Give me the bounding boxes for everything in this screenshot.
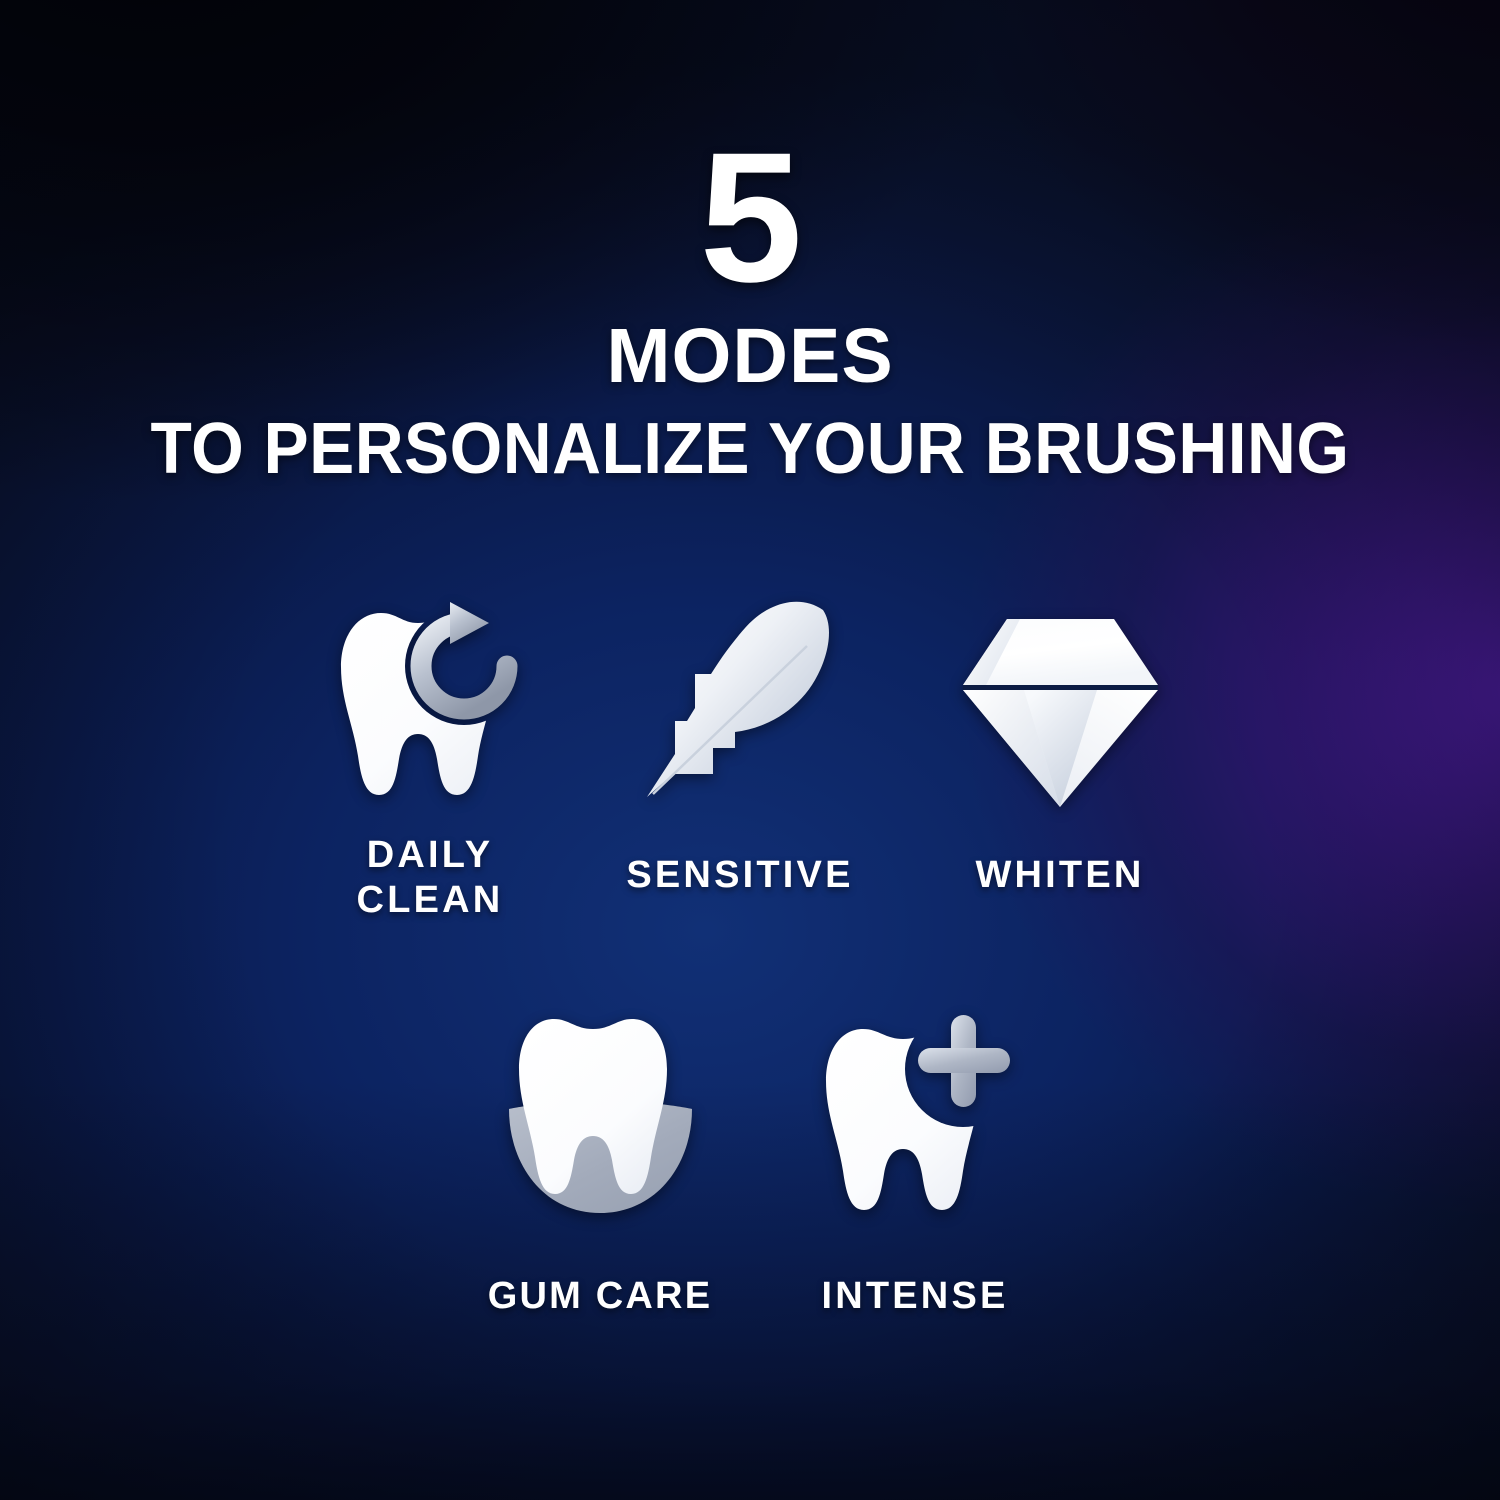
tooth-gum-icon [493,1005,708,1230]
mode-item-daily-clean[interactable]: DAILY CLEAN [280,596,580,923]
tooth-refresh-arrow-icon [330,596,530,811]
feather-vane [647,602,829,797]
diamond-icon [958,611,1163,811]
mode-label-whiten: WHITEN [975,853,1144,898]
mode-item-gum-care[interactable]: GUM CARE [435,1005,765,1319]
icon-container-gum-care [493,1005,708,1230]
mode-item-intense[interactable]: INTENSE [765,1005,1065,1319]
feather-icon [635,596,845,811]
diamond-girdle-line [963,685,1158,690]
headline-subtitle: TO PERSONALIZE YOUR BRUSHING [45,413,1455,485]
marketing-banner: 5 MODES TO PERSONALIZE YOUR BRUSHING [0,0,1500,1500]
mode-label-gum-care: GUM CARE [488,1274,713,1319]
icon-container-daily-clean [330,596,530,811]
icon-container-intense [815,1005,1015,1230]
icon-container-sensitive [635,596,845,811]
modes-row-bottom: GUM CARE [0,1005,1500,1319]
mode-label-daily-clean: DAILY CLEAN [357,833,504,923]
tooth-plus-icon [815,1005,1015,1230]
mode-item-whiten[interactable]: WHITEN [900,596,1220,898]
mode-count-label: MODES [0,318,1500,395]
mode-label-sensitive: SENSITIVE [626,853,853,898]
modes-row-top: DAILY CLEAN [0,596,1500,923]
mode-count-number: 5 [0,130,1500,308]
mode-label-intense: INTENSE [821,1274,1008,1319]
headline-block: 5 MODES TO PERSONALIZE YOUR BRUSHING [0,130,1500,485]
mode-item-sensitive[interactable]: SENSITIVE [580,596,900,898]
icon-container-whiten [958,596,1163,811]
